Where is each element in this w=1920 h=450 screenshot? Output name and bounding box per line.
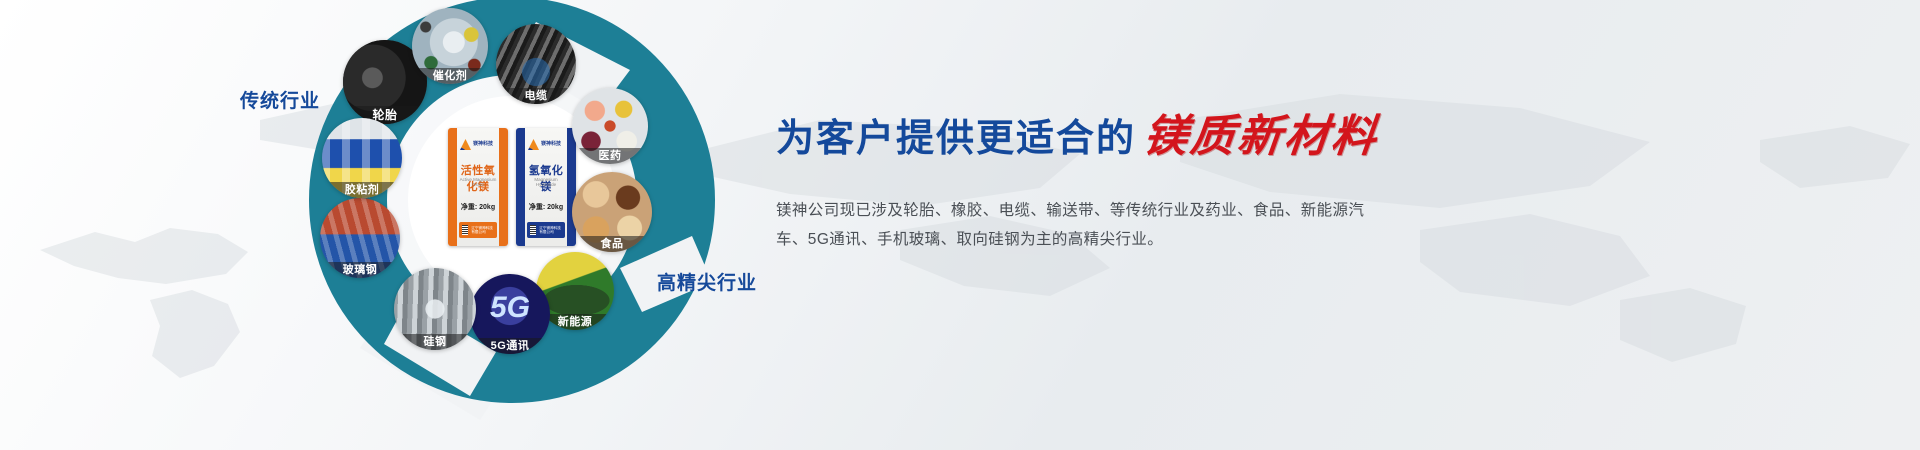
industry-node-frp[interactable]: 玻璃钢 — [320, 198, 400, 278]
industry-node-medicine[interactable]: 医药 — [572, 88, 648, 164]
headline-blue-text: 为客户提供更适合的 — [776, 107, 1136, 162]
body-line-1: 镁神公司现已涉及轮胎、橡胶、电缆、输送带、等传统行业及药业、食品、新 — [776, 202, 1317, 219]
industry-node-catalyst[interactable]: 催化剂 — [412, 8, 488, 84]
industry-node-food[interactable]: 食品 — [572, 172, 652, 252]
headline-red-text: 镁质新材料 — [1141, 100, 1383, 164]
node-label: 催化剂 — [412, 68, 488, 84]
industry-node-cable[interactable]: 电缆 — [496, 24, 576, 104]
section-label-hightech: 高精尖行业 — [657, 268, 757, 295]
node-label: 电缆 — [496, 88, 576, 104]
hero-body-text: 镁神公司现已涉及轮胎、橡胶、电缆、输送带、等传统行业及药业、食品、新能源汽车、5… — [776, 196, 1376, 254]
qr-code-icon — [462, 225, 468, 235]
industry-node-5g[interactable]: 5G 5G通讯 — [470, 274, 550, 354]
node-label: 硅钢 — [394, 334, 476, 350]
brand-name: 镁神科技 — [541, 142, 561, 148]
brand-logo: 镁神科技 — [460, 137, 496, 152]
brand-name: 镁神科技 — [473, 142, 493, 148]
bag-footer: 辽宁镁神科技有限公司 — [459, 222, 497, 238]
product-subtitle: Magnesium Hydroxide — [524, 177, 568, 187]
node-label: 医药 — [572, 148, 648, 164]
bag-footer: 辽宁镁神科技有限公司 — [527, 222, 565, 238]
headline: 为客户提供更适合的 镁质新材料 — [776, 100, 1536, 164]
product-net-weight: 净重: 20kg — [526, 202, 566, 212]
brand-logo: 镁神科技 — [528, 137, 564, 152]
node-label: 玻璃钢 — [320, 262, 400, 278]
node-label: 胶粘剂 — [322, 182, 402, 198]
mountain-logo-icon — [528, 139, 539, 150]
product-subtitle: Active Magnesium Oxide — [456, 177, 500, 187]
node-label: 5G通讯 — [470, 338, 550, 354]
product-net-weight: 净重: 20kg — [458, 202, 498, 212]
hero-text-block: 为客户提供更适合的 镁质新材料 镁神公司现已涉及轮胎、橡胶、电缆、输送带、等传统… — [776, 100, 1536, 254]
bag-side-stripe-right — [499, 128, 508, 246]
mountain-logo-icon — [460, 139, 471, 150]
industry-node-silicon-steel[interactable]: 硅钢 — [394, 268, 476, 350]
product-bag-active-magnesium-oxide: 镁神科技 活性氧化镁 Active Magnesium Oxide 净重: 20… — [448, 128, 508, 246]
bag-side-stripe-left — [516, 128, 525, 246]
bag-side-stripe-left — [448, 128, 457, 246]
node-label: 食品 — [572, 236, 652, 252]
industry-node-adhesive[interactable]: 胶粘剂 — [322, 118, 402, 198]
company-name: 辽宁镁神科技有限公司 — [471, 226, 494, 235]
qr-code-icon — [530, 225, 536, 235]
company-name: 辽宁镁神科技有限公司 — [539, 226, 562, 235]
section-label-traditional: 传统行业 — [240, 86, 320, 113]
industry-circle-infographic: 传统行业 高精尖行业 镁神科技 活性氧化镁 Active Magnesium O… — [300, 0, 770, 450]
product-bag-magnesium-hydroxide: 镁神科技 氢氧化镁 Magnesium Hydroxide 净重: 20kg 辽… — [516, 128, 576, 246]
